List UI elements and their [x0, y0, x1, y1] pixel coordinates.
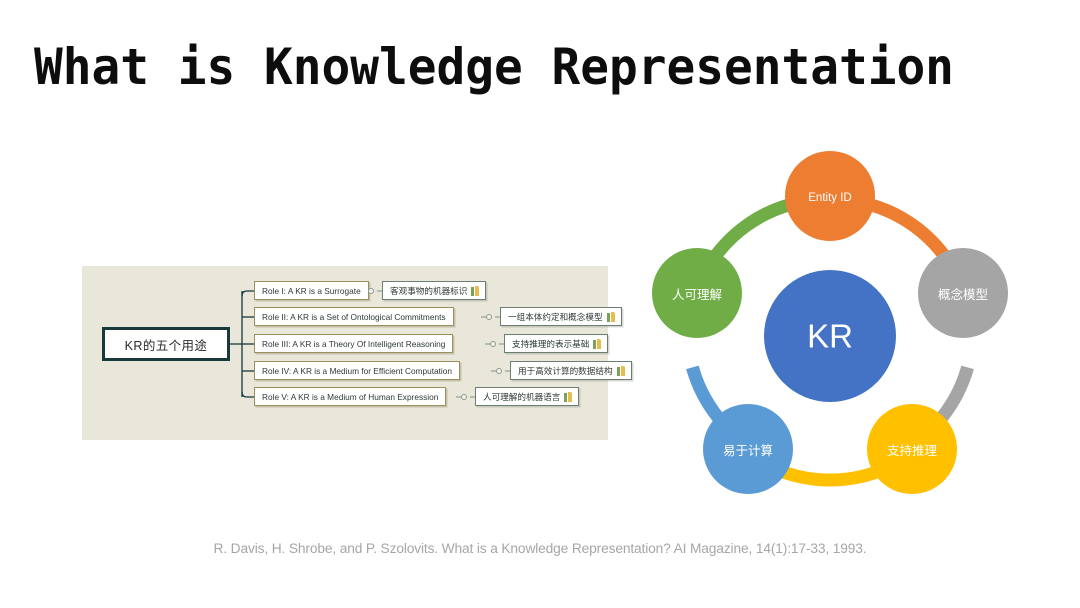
arc-yellow [779, 471, 881, 481]
mindmap-role-label-3: Role III: A KR is a Theory Of Intelligen… [262, 339, 445, 349]
mindmap-collapse-toggle-4[interactable] [496, 368, 502, 374]
mindmap-collapse-toggle-3[interactable] [490, 341, 496, 347]
mindmap-leaf-label-2: 一组本体约定和概念模型 [508, 311, 603, 323]
mindmap-panel: KR的五个用途 Role I: A KR is a Surrogate 客观事物… [82, 266, 608, 440]
note-icon [471, 286, 480, 296]
mindmap-leaf-label-3: 支持推理的表示基础 [512, 338, 589, 350]
note-icon [593, 339, 602, 349]
note-icon [617, 366, 626, 376]
mindmap-role-node-5[interactable]: Role V: A KR is a Medium of Human Expres… [254, 387, 446, 406]
mindmap-collapse-toggle-5[interactable] [461, 394, 467, 400]
mindmap-leaf-label-5: 人可理解的机器语言 [483, 391, 560, 403]
page-title: What is Knowledge Representation [34, 38, 954, 96]
mindmap-leaf-label-1: 客观事物的机器标识 [390, 285, 467, 297]
mindmap-leaf-node-4[interactable]: 用于高效计算的数据结构 [510, 361, 632, 380]
mindmap-leaf-node-3[interactable]: 支持推理的表示基础 [504, 334, 608, 353]
note-icon [564, 392, 573, 402]
node-label-entity-id: Entity ID [808, 192, 851, 204]
node-label-human-understandable: 人可理解 [672, 288, 722, 302]
arc-green [712, 205, 790, 261]
kr-circle-diagram: KR Entity ID 概念模型 支持推理 易于计算 人可理解 [640, 150, 1026, 516]
mindmap-role-node-4[interactable]: Role IV: A KR is a Medium for Efficient … [254, 361, 460, 380]
mindmap-role-node-1[interactable]: Role I: A KR is a Surrogate [254, 281, 369, 300]
mindmap-role-node-3[interactable]: Role III: A KR is a Theory Of Intelligen… [254, 334, 453, 353]
mindmap-root-node[interactable]: KR的五个用途 [102, 327, 230, 361]
mindmap-root-label: KR的五个用途 [125, 335, 208, 354]
mindmap-role-label-5: Role V: A KR is a Medium of Human Expres… [262, 392, 438, 402]
center-circle-label: KR [807, 318, 853, 355]
mindmap-leaf-label-4: 用于高效计算的数据结构 [518, 365, 613, 377]
mindmap-collapse-toggle-1[interactable] [368, 288, 374, 294]
mindmap-leaf-node-1[interactable]: 客观事物的机器标识 [382, 281, 486, 300]
mindmap-role-label-1: Role I: A KR is a Surrogate [262, 286, 361, 296]
mindmap-role-node-2[interactable]: Role II: A KR is a Set of Ontological Co… [254, 307, 454, 326]
source-citation: R. Davis, H. Shrobe, and P. Szolovits. W… [16, 541, 1064, 557]
node-label-concept-model: 概念模型 [938, 287, 988, 302]
mindmap-collapse-toggle-2[interactable] [486, 314, 492, 320]
note-icon [607, 312, 616, 322]
arc-orange [870, 205, 948, 261]
mindmap-leaf-node-2[interactable]: 一组本体约定和概念模型 [500, 307, 622, 326]
mindmap-role-label-4: Role IV: A KR is a Medium for Efficient … [262, 366, 452, 376]
node-label-easy-compute: 易于计算 [723, 443, 773, 458]
mindmap-leaf-node-5[interactable]: 人可理解的机器语言 [475, 387, 579, 406]
node-label-support-reasoning: 支持推理 [887, 443, 938, 458]
mindmap-role-label-2: Role II: A KR is a Set of Ontological Co… [262, 312, 446, 322]
